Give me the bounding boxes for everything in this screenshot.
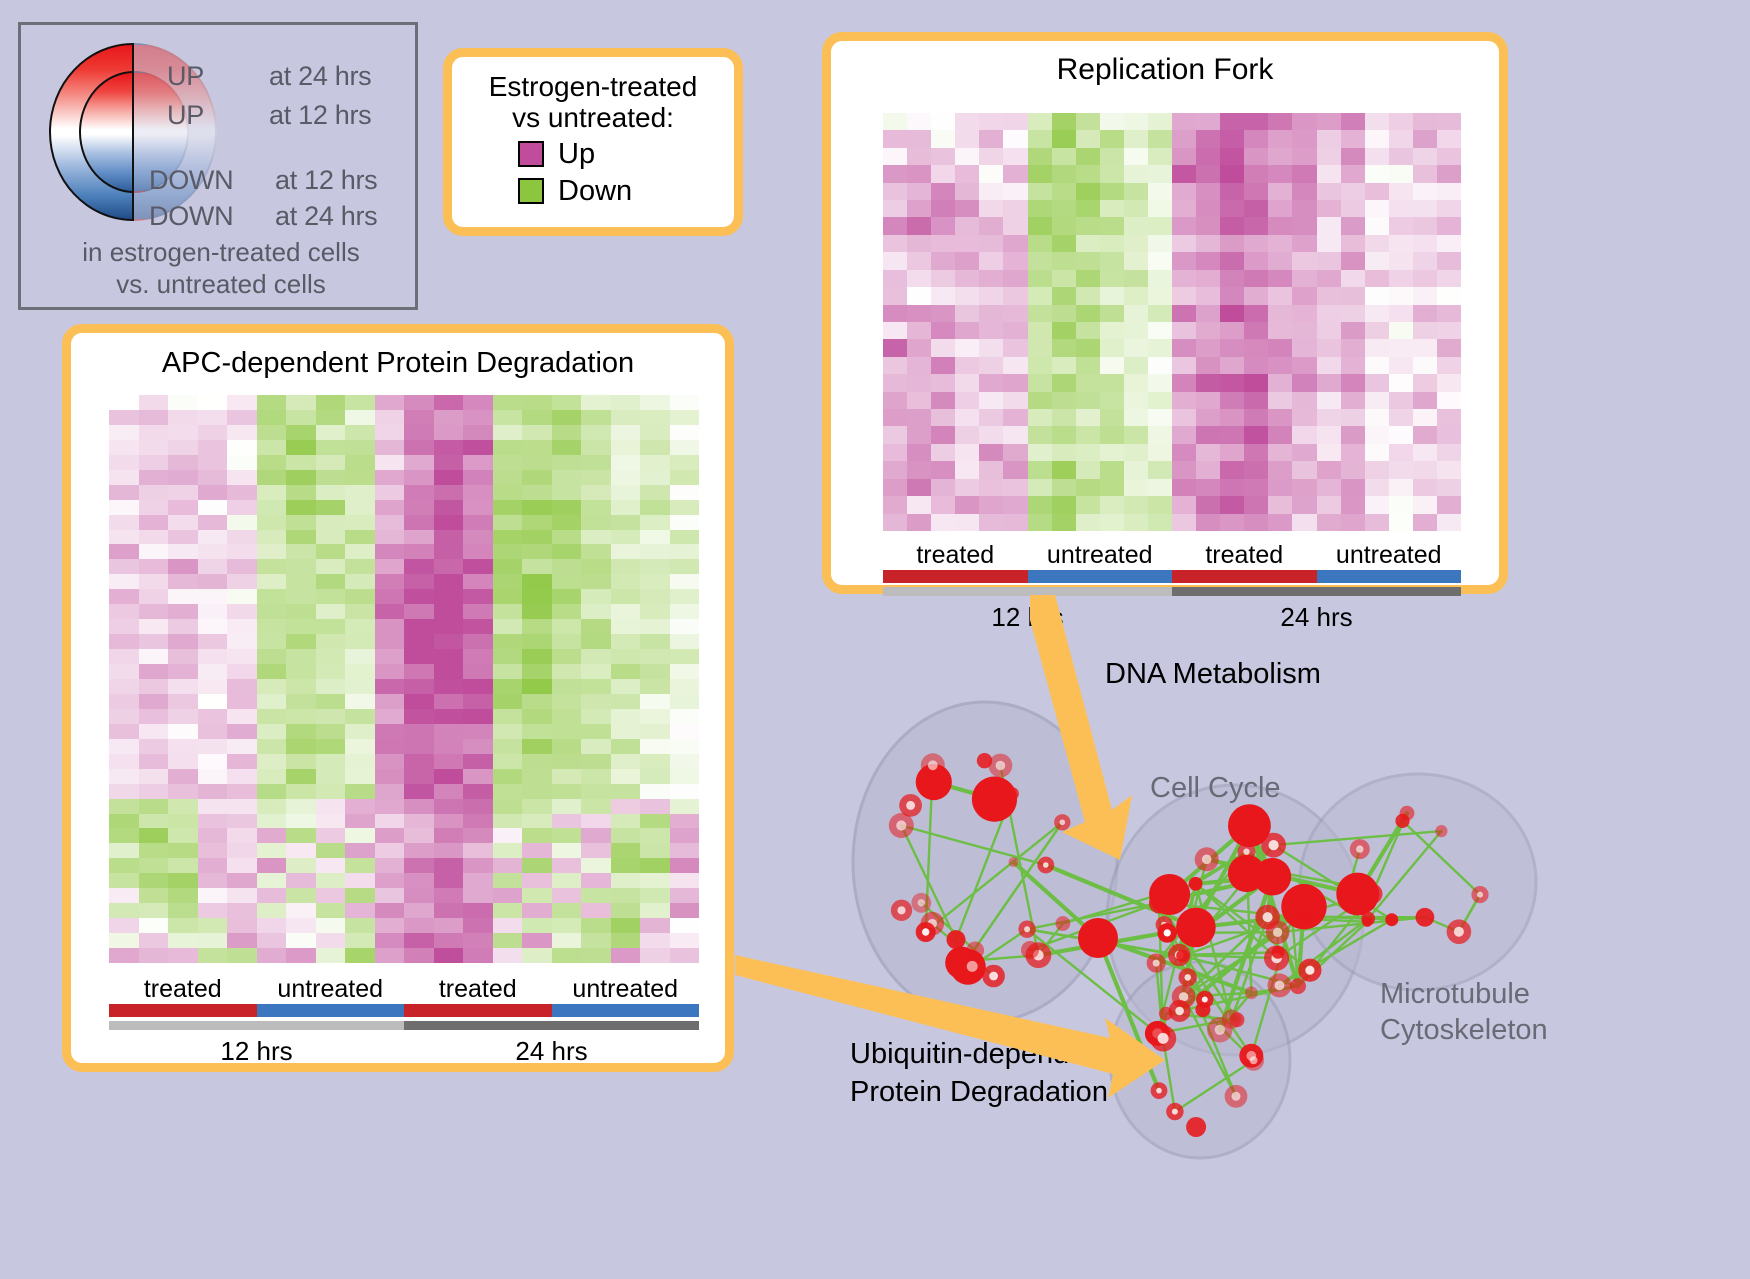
- heatmap-cell: [1100, 444, 1124, 461]
- heatmap-cell: [375, 410, 405, 425]
- heatmap-cell: [1220, 270, 1244, 287]
- heatmap-cell: [1268, 287, 1292, 304]
- heatmap-cell: [404, 604, 434, 619]
- heatmap-cell: [493, 739, 523, 754]
- heatmap-cell: [640, 470, 670, 485]
- heatmap-cell: [463, 888, 493, 903]
- heatmap-cell: [1437, 130, 1461, 147]
- heatmap-cell: [1100, 514, 1124, 531]
- heatmap-cell: [493, 918, 523, 933]
- heatmap-cell: [1413, 235, 1437, 252]
- heatmap-cell: [257, 903, 287, 918]
- heatmap-cell: [1220, 322, 1244, 339]
- heatmap-cell: [640, 724, 670, 739]
- heatmap-cell: [640, 709, 670, 724]
- rf-group-label-2: treated: [1172, 541, 1317, 570]
- heatmap-cell: [552, 589, 582, 604]
- heatmap-cell: [670, 664, 700, 679]
- heatmap-cell: [1124, 374, 1148, 391]
- heatmap-cell: [1437, 426, 1461, 443]
- heatmap-cell: [198, 485, 228, 500]
- heatmap-cell: [168, 828, 198, 843]
- heatmap-cell: [1341, 392, 1365, 409]
- heatmap-cell: [1148, 113, 1172, 130]
- heatmap-cell: [316, 903, 346, 918]
- heatmap-cell: [434, 500, 464, 515]
- heatmap-cell: [198, 903, 228, 918]
- heatmap-cell: [1244, 113, 1268, 130]
- heatmap-cell: [434, 754, 464, 769]
- heatmap-cell: [581, 425, 611, 440]
- heatmap-cell: [1341, 374, 1365, 391]
- heatmap-cell: [257, 544, 287, 559]
- rf-group-label-1: untreated: [1028, 541, 1173, 570]
- heatmap-cell: [375, 784, 405, 799]
- heatmap-cell: [670, 769, 700, 784]
- heatmap-cell: [286, 530, 316, 545]
- heatmap-cell: [345, 739, 375, 754]
- heatmap-cell: [139, 604, 169, 619]
- heatmap-cell: [375, 589, 405, 604]
- heatmap-cell: [434, 918, 464, 933]
- heatmap-cell: [139, 470, 169, 485]
- heatmap-cell: [1437, 514, 1461, 531]
- heatmap-cell: [1341, 496, 1365, 513]
- heatmap-cell: [1028, 148, 1052, 165]
- heatmap-cell: [552, 485, 582, 500]
- heatmap-cell: [1244, 183, 1268, 200]
- heatmap-cell: [345, 933, 375, 948]
- heatmap-cell: [611, 948, 641, 963]
- heatmap-cell: [522, 485, 552, 500]
- replication-fork-heatmap: [883, 113, 1461, 531]
- heatmap-cell: [955, 444, 979, 461]
- heatmap-cell: [1268, 322, 1292, 339]
- heatmap-cell: [1268, 374, 1292, 391]
- heatmap-cell: [109, 574, 139, 589]
- heatmap-cell: [1389, 270, 1413, 287]
- heatmap-cell: [640, 769, 670, 784]
- heatmap-cell: [227, 589, 257, 604]
- heatmap-cell: [1196, 496, 1220, 513]
- heatmap-cell: [979, 183, 1003, 200]
- heatmap-cell: [1220, 287, 1244, 304]
- heatmap-cell: [883, 392, 907, 409]
- heatmap-cell: [1172, 165, 1196, 182]
- heatmap-cell: [1124, 270, 1148, 287]
- heatmap-cell: [1172, 183, 1196, 200]
- heatmap-cell: [257, 574, 287, 589]
- heatmap-cell: [1220, 165, 1244, 182]
- heatmap-cell: [1268, 444, 1292, 461]
- heatmap-cell: [227, 694, 257, 709]
- heatmap-cell: [1172, 514, 1196, 531]
- heatmap-cell: [640, 814, 670, 829]
- heatmap-cell: [463, 440, 493, 455]
- heatmap-cell: [552, 724, 582, 739]
- heatmap-cell: [1196, 339, 1220, 356]
- heatmap-cell: [979, 200, 1003, 217]
- heatmap-cell: [1389, 409, 1413, 426]
- heatmap-cell: [1148, 461, 1172, 478]
- heatmap-cell: [257, 530, 287, 545]
- heatmap-cell: [640, 903, 670, 918]
- heatmap-cell: [109, 694, 139, 709]
- heatmap-cell: [1220, 479, 1244, 496]
- heatmap-cell: [1196, 374, 1220, 391]
- heatmap-cell: [434, 948, 464, 963]
- heatmap-cell: [640, 455, 670, 470]
- heatmap-cell: [1220, 113, 1244, 130]
- heatmap-cell: [931, 113, 955, 130]
- heatmap-cell: [139, 634, 169, 649]
- heatmap-cell: [1365, 444, 1389, 461]
- rf-group-label-0: treated: [883, 541, 1028, 570]
- heatmap-cell: [1076, 339, 1100, 356]
- heatmap-cell: [1437, 235, 1461, 252]
- heatmap-cell: [907, 130, 931, 147]
- heatmap-cell: [1124, 235, 1148, 252]
- heatmap-cell: [257, 619, 287, 634]
- heatmap-cell: [404, 470, 434, 485]
- heatmap-cell: [1244, 305, 1268, 322]
- heatmap-cell: [640, 604, 670, 619]
- heatmap-cell: [1389, 113, 1413, 130]
- heatmap-cell: [404, 814, 434, 829]
- heatmap-cell: [434, 530, 464, 545]
- heatmap-cell: [404, 619, 434, 634]
- heatmap-cell: [581, 634, 611, 649]
- heatmap-cell: [227, 918, 257, 933]
- heatmap-cell: [931, 287, 955, 304]
- heatmap-cell: [1003, 479, 1027, 496]
- heatmap-cell: [286, 858, 316, 873]
- heatmap-cell: [611, 739, 641, 754]
- heatmap-cell: [227, 544, 257, 559]
- heatmap-cell: [522, 888, 552, 903]
- heatmap-cell: [1196, 392, 1220, 409]
- heatmap-cell: [463, 649, 493, 664]
- heatmap-cell: [1413, 252, 1437, 269]
- heatmap-cell: [1413, 200, 1437, 217]
- heatmap-cell: [1028, 270, 1052, 287]
- heatmap-cell: [522, 814, 552, 829]
- heatmap-cell: [1076, 357, 1100, 374]
- heatmap-cell: [198, 544, 228, 559]
- heatmap-cell: [1003, 217, 1027, 234]
- heatmap-cell: [1148, 148, 1172, 165]
- heatmap-cell: [1124, 322, 1148, 339]
- heatmap-cell: [1172, 479, 1196, 496]
- heatmap-cell: [463, 515, 493, 530]
- heatmap-cell: [1341, 461, 1365, 478]
- apc-time-bar-24hrs: [404, 1021, 699, 1030]
- heatmap-cell: [1172, 148, 1196, 165]
- heatmap-cell: [1389, 339, 1413, 356]
- heatmap-cell: [1413, 287, 1437, 304]
- heatmap-cell: [463, 799, 493, 814]
- heatmap-cell: [286, 739, 316, 754]
- heatmap-cell: [907, 217, 931, 234]
- heatmap-cell: [404, 709, 434, 724]
- heatmap-cell: [640, 410, 670, 425]
- heatmap-cell: [1413, 165, 1437, 182]
- heatmap-cell: [1052, 287, 1076, 304]
- heatmap-cell: [1365, 130, 1389, 147]
- heatmap-cell: [109, 724, 139, 739]
- heatmap-cell: [1292, 426, 1316, 443]
- heatmap-cell: [1100, 200, 1124, 217]
- heatmap-cell: [1292, 357, 1316, 374]
- heatmap-cell: [227, 500, 257, 515]
- heatmap-cell: [257, 634, 287, 649]
- heatmap-cell: [522, 515, 552, 530]
- colorwheel-row-1-time: at 12 hrs: [269, 100, 371, 131]
- heatmap-cell: [979, 426, 1003, 443]
- heatmap-cell: [316, 395, 346, 410]
- heatmap-cell: [227, 559, 257, 574]
- heatmap-cell: [375, 843, 405, 858]
- heatmap-cell: [1028, 217, 1052, 234]
- heatmap-cell: [463, 679, 493, 694]
- heatmap-cell: [493, 470, 523, 485]
- heatmap-cell: [1076, 461, 1100, 478]
- heatmap-cell: [1292, 217, 1316, 234]
- heatmap-cell: [1172, 409, 1196, 426]
- rf-bar-untreated-12: [1028, 570, 1173, 583]
- heatmap-cell: [1100, 270, 1124, 287]
- heatmap-cell: [1196, 479, 1220, 496]
- heatmap-cell: [404, 948, 434, 963]
- heatmap-cell: [286, 500, 316, 515]
- heatmap-cell: [404, 440, 434, 455]
- heatmap-cell: [434, 619, 464, 634]
- heatmap-cell: [611, 559, 641, 574]
- heatmap-cell: [286, 799, 316, 814]
- heatmap-cell: [611, 873, 641, 888]
- heatmap-cell: [316, 515, 346, 530]
- heatmap-cell: [552, 903, 582, 918]
- heatmap-cell: [345, 679, 375, 694]
- heatmap-cell: [168, 739, 198, 754]
- heatmap-cell: [522, 903, 552, 918]
- heatmap-cell: [1172, 461, 1196, 478]
- heatmap-cell: [931, 496, 955, 513]
- heatmap-cell: [1292, 374, 1316, 391]
- heatmap-cell: [1244, 357, 1268, 374]
- heatmap-cell: [1389, 287, 1413, 304]
- heatmap-cell: [1244, 287, 1268, 304]
- heatmap-cell: [1244, 461, 1268, 478]
- heatmap-cell: [1100, 374, 1124, 391]
- heatmap-cell: [1317, 165, 1341, 182]
- heatmap-cell: [257, 948, 287, 963]
- heatmap-cell: [611, 425, 641, 440]
- heatmap-cell: [257, 649, 287, 664]
- heatmap-cell: [168, 634, 198, 649]
- heatmap-cell: [1003, 130, 1027, 147]
- heatmap-cell: [907, 183, 931, 200]
- heatmap-cell: [198, 455, 228, 470]
- apc-treatment-bar: [109, 1004, 699, 1017]
- heatmap-cell: [257, 664, 287, 679]
- heatmap-cell: [1148, 444, 1172, 461]
- heatmap-cell: [257, 485, 287, 500]
- heatmap-cell: [552, 754, 582, 769]
- heatmap-cell: [345, 440, 375, 455]
- heatmap-cell: [286, 724, 316, 739]
- updown-legend-title-line2: vs untreated:: [462, 102, 724, 133]
- heatmap-cell: [198, 530, 228, 545]
- heatmap-cell: [463, 589, 493, 604]
- heatmap-cell: [1389, 479, 1413, 496]
- apc-group-labels: treated untreated treated untreated: [109, 975, 699, 1004]
- heatmap-cell: [955, 426, 979, 443]
- heatmap-cell: [883, 339, 907, 356]
- heatmap-cell: [286, 784, 316, 799]
- heatmap-cell: [168, 425, 198, 440]
- heatmap-cell: [198, 709, 228, 724]
- heatmap-cell: [139, 559, 169, 574]
- heatmap-cell: [581, 933, 611, 948]
- heatmap-cell: [227, 828, 257, 843]
- heatmap-cell: [1244, 130, 1268, 147]
- heatmap-cell: [670, 634, 700, 649]
- heatmap-cell: [1220, 148, 1244, 165]
- heatmap-cell: [1124, 444, 1148, 461]
- heatmap-cell: [316, 634, 346, 649]
- heatmap-cell: [522, 948, 552, 963]
- heatmap-cell: [1100, 305, 1124, 322]
- heatmap-cell: [493, 515, 523, 530]
- heatmap-cell: [1341, 514, 1365, 531]
- heatmap-cell: [581, 574, 611, 589]
- heatmap-cell: [463, 739, 493, 754]
- heatmap-cell: [404, 395, 434, 410]
- apc-heatmap: [109, 395, 699, 963]
- heatmap-cell: [198, 858, 228, 873]
- heatmap-cell: [883, 252, 907, 269]
- heatmap-cell: [1028, 496, 1052, 513]
- heatmap-cell: [1220, 514, 1244, 531]
- heatmap-cell: [286, 903, 316, 918]
- heatmap-cell: [1244, 496, 1268, 513]
- heatmap-cell: [1148, 392, 1172, 409]
- apc-time-bar-12hrs: [109, 1021, 404, 1030]
- heatmap-cell: [227, 530, 257, 545]
- heatmap-cell: [139, 574, 169, 589]
- heatmap-cell: [931, 339, 955, 356]
- heatmap-cell: [670, 574, 700, 589]
- heatmap-cell: [883, 444, 907, 461]
- heatmap-cell: [581, 455, 611, 470]
- heatmap-cell: [316, 828, 346, 843]
- heatmap-cell: [1052, 409, 1076, 426]
- heatmap-cell: [493, 619, 523, 634]
- heatmap-cell: [1365, 409, 1389, 426]
- heatmap-cell: [198, 769, 228, 784]
- apc-time-label-24hrs: 24 hrs: [404, 1036, 699, 1067]
- heatmap-cell: [109, 440, 139, 455]
- heatmap-cell: [1341, 287, 1365, 304]
- heatmap-cell: [1076, 305, 1100, 322]
- heatmap-cell: [1028, 514, 1052, 531]
- legend-label-down: Down: [558, 175, 632, 208]
- heatmap-cell: [552, 799, 582, 814]
- heatmap-cell: [227, 739, 257, 754]
- heatmap-cell: [286, 814, 316, 829]
- heatmap-cell: [611, 814, 641, 829]
- heatmap-cell: [581, 739, 611, 754]
- heatmap-cell: [139, 530, 169, 545]
- heatmap-cell: [670, 784, 700, 799]
- apc-panel-title: APC-dependent Protein Degradation: [71, 347, 725, 380]
- heatmap-cell: [1317, 374, 1341, 391]
- heatmap-cell: [979, 113, 1003, 130]
- heatmap-cell: [404, 888, 434, 903]
- heatmap-cell: [227, 903, 257, 918]
- heatmap-cell: [552, 739, 582, 754]
- heatmap-cell: [1148, 287, 1172, 304]
- heatmap-cell: [168, 530, 198, 545]
- heatmap-cell: [404, 754, 434, 769]
- heatmap-cell: [375, 769, 405, 784]
- heatmap-cell: [1292, 322, 1316, 339]
- heatmap-cell: [1003, 322, 1027, 339]
- heatmap-cell: [168, 843, 198, 858]
- heatmap-cell: [1292, 461, 1316, 478]
- heatmap-cell: [1148, 514, 1172, 531]
- heatmap-cell: [227, 470, 257, 485]
- heatmap-cell: [670, 515, 700, 530]
- heatmap-cell: [670, 530, 700, 545]
- heatmap-cell: [493, 843, 523, 858]
- heatmap-cell: [552, 843, 582, 858]
- heatmap-cell: [404, 724, 434, 739]
- heatmap-cell: [1220, 496, 1244, 513]
- heatmap-cell: [375, 515, 405, 530]
- heatmap-cell: [286, 754, 316, 769]
- heatmap-cell: [109, 530, 139, 545]
- heatmap-cell: [1365, 339, 1389, 356]
- heatmap-cell: [670, 649, 700, 664]
- heatmap-cell: [404, 500, 434, 515]
- heatmap-cell: [1341, 339, 1365, 356]
- heatmap-cell: [955, 148, 979, 165]
- heatmap-cell: [931, 305, 955, 322]
- heatmap-cell: [1437, 287, 1461, 304]
- heatmap-cell: [670, 828, 700, 843]
- heatmap-cell: [1437, 252, 1461, 269]
- cluster-label-ubiquitin-line2: Protein Degradation: [850, 1076, 1108, 1109]
- heatmap-cell: [1317, 270, 1341, 287]
- heatmap-cell: [907, 339, 931, 356]
- heatmap-cell: [227, 485, 257, 500]
- heatmap-cell: [257, 873, 287, 888]
- heatmap-cell: [257, 395, 287, 410]
- heatmap-cell: [1148, 374, 1172, 391]
- heatmap-cell: [1148, 305, 1172, 322]
- heatmap-cell: [1196, 287, 1220, 304]
- heatmap-cell: [1003, 409, 1027, 426]
- heatmap-cell: [1244, 235, 1268, 252]
- heatmap-cell: [109, 604, 139, 619]
- heatmap-cell: [1052, 357, 1076, 374]
- heatmap-cell: [1268, 426, 1292, 443]
- heatmap-cell: [463, 425, 493, 440]
- heatmap-cell: [109, 470, 139, 485]
- heatmap-cell: [1124, 357, 1148, 374]
